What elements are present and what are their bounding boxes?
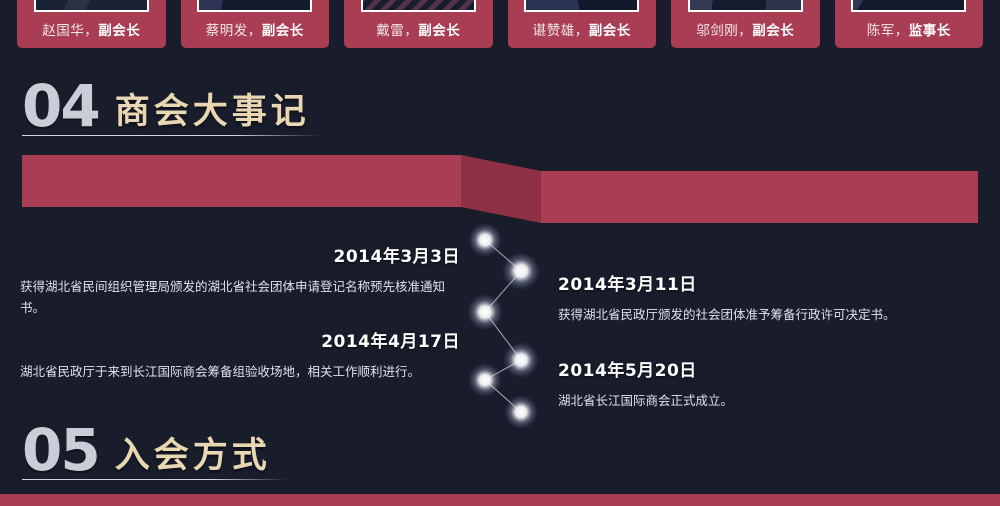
section-heading-05: 05 入会方式 [22, 428, 287, 480]
timeline-date: 2014年3月3日 [20, 242, 460, 267]
leader-title: 副会长 [262, 23, 304, 38]
timeline-description: 湖北省民政厅于来到长江国际商会筹备组验收场地，相关工作顺利进行。 [20, 362, 445, 383]
timeline-connector-graphic [455, 215, 565, 430]
timeline-dot [468, 363, 502, 397]
leader-caption: 戴雷，副会长 [376, 19, 460, 39]
leader-caption: 赵国华，副会长 [42, 19, 140, 39]
timeline-item: 2014年3月11日 获得湖北省民政厅颁发的社会团体准予筹备行政许可决定书。 [558, 270, 978, 326]
bottom-accent-bar [0, 494, 1000, 506]
leader-photo [34, 0, 149, 12]
leader-photo [197, 0, 312, 12]
timeline-dot [467, 294, 503, 330]
leader-card[interactable]: 陈军，监事长 [835, 0, 984, 48]
leader-photo [524, 0, 639, 12]
section-number-04: 04 [22, 84, 99, 129]
leader-card[interactable]: 蔡明发，副会长 [181, 0, 330, 48]
leader-photo [361, 0, 476, 12]
leader-card[interactable]: 谌赞雄，副会长 [508, 0, 657, 48]
leader-name: 赵国华 [42, 23, 84, 38]
leader-card[interactable]: 戴雷，副会长 [344, 0, 493, 48]
leader-card[interactable]: 邬剑刚，副会长 [671, 0, 820, 48]
section-heading-04: 04 商会大事记 [22, 84, 320, 136]
timeline-connector [455, 215, 565, 430]
leader-caption: 陈军，监事长 [867, 19, 951, 39]
section-number-05: 05 [22, 428, 99, 473]
page-root: 赵国华，副会长 蔡明发，副会长 戴雷，副会长 谌赞雄，副会长 邬剑刚，副会长 陈… [0, 0, 1000, 506]
leader-name: 谌赞雄 [533, 23, 575, 38]
leader-title: 监事长 [909, 23, 951, 38]
leader-photo [851, 0, 966, 12]
leader-name: 陈军 [867, 23, 895, 38]
leader-caption: 谌赞雄，副会长 [533, 19, 631, 39]
leader-title: 副会长 [752, 23, 794, 38]
leader-name: 戴雷 [376, 23, 404, 38]
timeline-description: 湖北省长江国际商会正式成立。 [558, 391, 978, 412]
leader-name: 蔡明发 [206, 23, 248, 38]
leader-title: 副会长 [418, 23, 460, 38]
timeline-dot [468, 223, 502, 257]
leader-name: 邬剑刚 [696, 23, 738, 38]
timeline-date: 2014年4月17日 [20, 327, 460, 352]
timeline-description: 获得湖北省民政厅颁发的社会团体准予筹备行政许可决定书。 [558, 305, 978, 326]
leader-photo [688, 0, 803, 12]
leader-card[interactable]: 赵国华，副会长 [17, 0, 166, 48]
timeline-description: 获得湖北省民间组织管理局颁发的湖北省社会团体申请登记名称预先核准通知书。 [20, 277, 445, 318]
timeline-dot [502, 252, 540, 290]
leader-caption: 邬剑刚，副会长 [696, 19, 794, 39]
section-title-05: 入会方式 [115, 438, 271, 473]
timeline-item: 2014年4月17日 湖北省民政厅于来到长江国际商会筹备组验收场地，相关工作顺利… [20, 327, 460, 383]
leader-title: 副会长 [98, 23, 140, 38]
timeline-item: 2014年3月3日 获得湖北省民间组织管理局颁发的湖北省社会团体申请登记名称预先… [20, 242, 460, 318]
timeline-date: 2014年3月11日 [558, 270, 978, 295]
leader-title: 副会长 [589, 23, 631, 38]
timeline-dot [504, 395, 538, 429]
timeline-dot-group [467, 223, 540, 429]
leader-caption: 蔡明发，副会长 [206, 19, 304, 39]
timeline-dot [503, 342, 539, 378]
timeline-date: 2014年5月20日 [558, 356, 978, 381]
leader-card-strip: 赵国华，副会长 蔡明发，副会长 戴雷，副会长 谌赞雄，副会长 邬剑刚，副会长 陈… [0, 0, 1000, 48]
timeline-item: 2014年5月20日 湖北省长江国际商会正式成立。 [558, 356, 978, 412]
section-title-04: 商会大事记 [115, 94, 310, 129]
